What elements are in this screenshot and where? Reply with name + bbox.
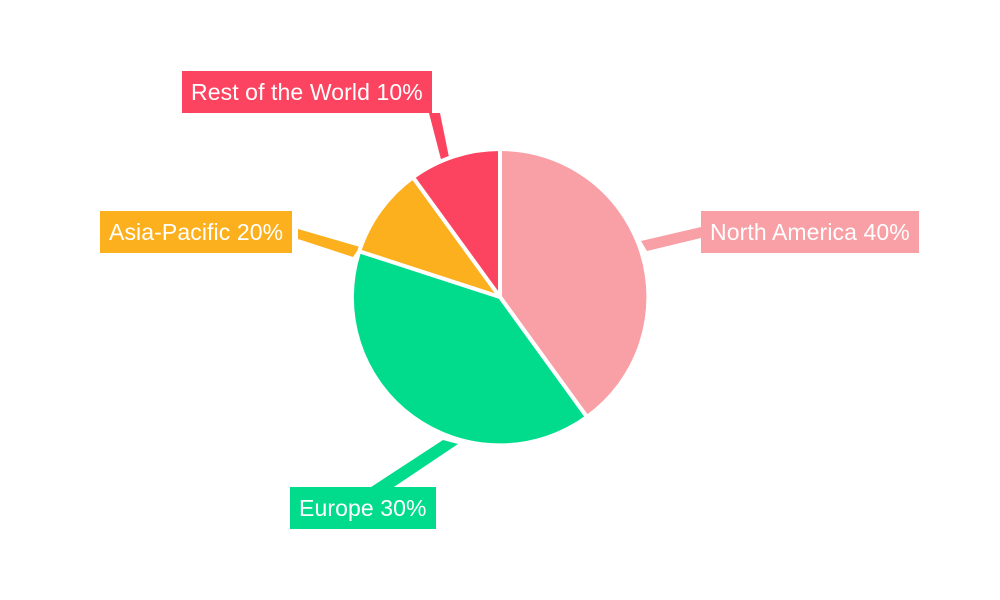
pie-label-north-america-text: North America 40% [710, 221, 910, 244]
pie-label-rest-of-world-text: Rest of the World 10% [191, 81, 423, 104]
pie-label-europe[interactable]: Europe 30% [290, 487, 436, 529]
pie-label-europe-text: Europe 30% [299, 497, 427, 520]
pie-label-asia-pacific-text: Asia-Pacific 20% [109, 221, 283, 244]
pie-chart-figure [0, 0, 1000, 600]
pie-chart-canvas: North America 40% Europe 30% Asia-Pacifi… [0, 0, 1000, 600]
pie-label-north-america[interactable]: North America 40% [701, 211, 919, 253]
pie-slices [352, 149, 649, 445]
pie-label-asia-pacific[interactable]: Asia-Pacific 20% [100, 211, 292, 253]
pie-label-rest-of-world[interactable]: Rest of the World 10% [182, 71, 432, 113]
